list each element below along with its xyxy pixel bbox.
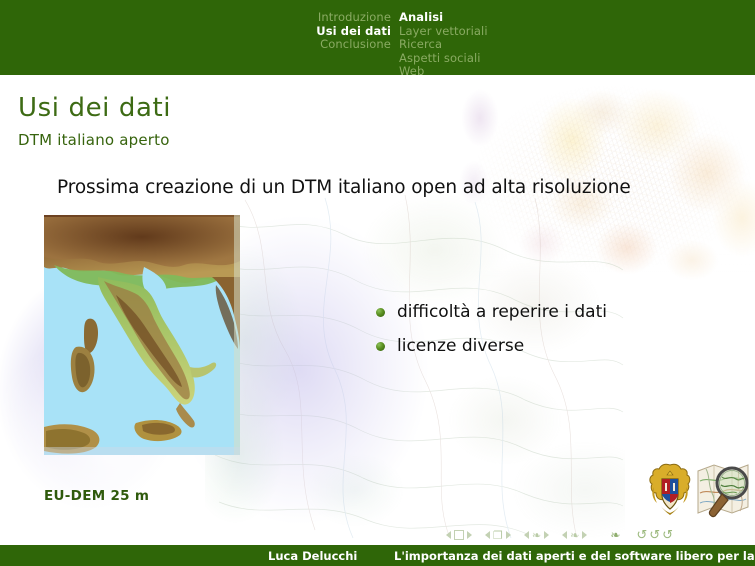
map-magnifier-icon xyxy=(694,459,752,521)
list-item: difficoltà a reperire i dati xyxy=(376,302,607,322)
bullet-label: licenze diverse xyxy=(397,336,524,356)
nav-item-layer-vettoriali[interactable]: Layer vettoriali xyxy=(399,25,599,39)
nav-item-analisi[interactable]: Analisi xyxy=(399,11,599,25)
footer-title: L'importanza dei dati aperti e del softw… xyxy=(394,549,755,563)
subsection-navigation-symbol[interactable]: ❐ xyxy=(485,530,511,541)
nav-item-conclusione[interactable]: Conclusione xyxy=(281,38,391,52)
slide-headline: Prossima creazione di un DTM italiano op… xyxy=(57,177,631,198)
footer-author: Luca Delucchi xyxy=(268,549,357,563)
presentation-stack-icon[interactable]: ❧ xyxy=(570,530,579,541)
coat-of-arms-icon xyxy=(646,461,694,519)
nav-column-sections: Introduzione Usi dei dati Conclusione xyxy=(281,11,399,79)
back-navigation-icon[interactable]: ↺↺↺ xyxy=(636,528,675,543)
header-navigation-bar: Introduzione Usi dei dati Conclusione An… xyxy=(0,0,755,75)
slide-subtitle: DTM italiano aperto xyxy=(18,131,170,149)
section-stack-icon[interactable]: ❧ xyxy=(532,530,541,541)
prev-subsection-icon[interactable] xyxy=(485,531,490,539)
beamer-navigation-symbols: ❐ ❧ ❧ ❧ ↺↺↺ xyxy=(446,526,675,544)
italy-dem-image xyxy=(44,215,240,455)
nav-item-ricerca[interactable]: Ricerca xyxy=(399,38,599,52)
section-navigation-symbol[interactable]: ❧ xyxy=(524,530,549,541)
document-symbol-icon[interactable]: ❧ xyxy=(610,528,620,542)
nav-item-aspetti-sociali[interactable]: Aspetti sociali xyxy=(399,52,599,66)
next-presentation-icon[interactable] xyxy=(582,531,587,539)
nav-item-introduzione[interactable]: Introduzione xyxy=(281,11,391,25)
bullet-dot-icon xyxy=(376,308,385,317)
prev-section-icon[interactable] xyxy=(524,531,529,539)
next-subsection-icon[interactable] xyxy=(506,531,511,539)
image-caption: EU-DEM 25 m xyxy=(44,488,149,504)
slide-title: Usi dei dati xyxy=(18,93,171,123)
slide-canvas: Introduzione Usi dei dati Conclusione An… xyxy=(0,0,755,566)
next-section-icon[interactable] xyxy=(544,531,549,539)
bullet-dot-icon xyxy=(376,342,385,351)
nav-item-usi-dei-dati[interactable]: Usi dei dati xyxy=(281,25,391,39)
prev-presentation-icon[interactable] xyxy=(562,531,567,539)
frame-navigation-symbol[interactable] xyxy=(446,530,472,540)
presentation-navigation-symbol[interactable]: ❧ xyxy=(562,530,587,541)
bullet-label: difficoltà a reperire i dati xyxy=(397,302,607,322)
bullet-list: difficoltà a reperire i dati licenze div… xyxy=(376,302,607,370)
subsection-stack-icon[interactable]: ❐ xyxy=(493,530,503,541)
list-item: licenze diverse xyxy=(376,336,607,356)
nav-column-subsections: Analisi Layer vettoriali Ricerca Aspetti… xyxy=(399,11,599,79)
frame-square-icon[interactable] xyxy=(454,530,464,540)
prev-frame-icon[interactable] xyxy=(446,531,451,539)
nav-item-web[interactable]: Web xyxy=(399,65,599,79)
section-navigation: Introduzione Usi dei dati Conclusione An… xyxy=(281,11,599,79)
next-frame-icon[interactable] xyxy=(467,531,472,539)
